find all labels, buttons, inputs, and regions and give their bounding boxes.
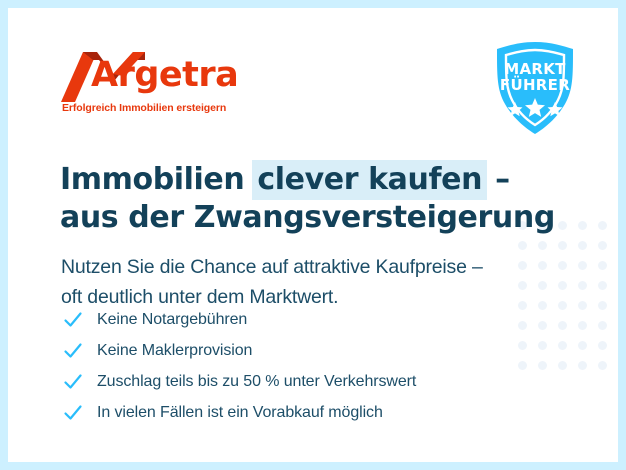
headline-line-2: aus der Zwangsversteigerung (60, 200, 555, 235)
decorative-dot (598, 321, 607, 330)
logo-wordmark: Argetra (91, 58, 238, 93)
list-item: Keine Notargebühren (63, 304, 416, 335)
check-icon (63, 403, 83, 423)
list-item-label: In vielen Fällen ist ein Vorabkauf mögli… (97, 404, 383, 422)
decorative-dot (558, 341, 567, 350)
decorative-dot (598, 301, 607, 310)
decorative-dot (558, 221, 567, 230)
decorative-dot (598, 281, 607, 290)
decorative-dot (578, 221, 587, 230)
decorative-dot (578, 241, 587, 250)
subtitle-line-1: Nutzen Sie die Chance auf attraktive Kau… (61, 256, 483, 278)
decorative-dot (518, 341, 527, 350)
decorative-dot (598, 361, 607, 370)
decorative-dot (538, 321, 547, 330)
list-item-label: Keine Notargebühren (97, 311, 247, 329)
decorative-dot (578, 301, 587, 310)
decorative-dot (598, 241, 607, 250)
decorative-dot (518, 361, 527, 370)
decorative-dot (558, 321, 567, 330)
headline-pre: Immobilien (60, 162, 254, 197)
page-title: Immobilien clever kaufen – aus der Zwang… (60, 161, 555, 238)
decorative-dot (578, 281, 587, 290)
decorative-dot (578, 261, 587, 270)
ad-card: Argetra Erfolgreich Immobilien ersteiger… (8, 8, 618, 462)
subtitle: Nutzen Sie die Chance auf attraktive Kau… (61, 252, 483, 312)
ad-frame: Argetra Erfolgreich Immobilien ersteiger… (0, 0, 626, 470)
decorative-dot (518, 301, 527, 310)
list-item: In vielen Fällen ist ein Vorabkauf mögli… (63, 397, 416, 428)
decorative-dot (538, 281, 547, 290)
list-item: Zuschlag teils bis zu 50 % unter Verkehr… (63, 366, 416, 397)
argetra-logo[interactable]: Argetra Erfolgreich Immobilien ersteiger… (61, 50, 281, 102)
list-item-label: Keine Maklerprovision (97, 342, 252, 360)
decorative-dot (538, 341, 547, 350)
decorative-dot (558, 261, 567, 270)
decorative-dot (578, 361, 587, 370)
decorative-dot (538, 241, 547, 250)
benefits-list: Keine Notargebühren Keine Maklerprovisio… (63, 304, 416, 428)
decorative-dot (598, 341, 607, 350)
decorative-dot (518, 241, 527, 250)
decorative-dot (538, 361, 547, 370)
decorative-dot (598, 221, 607, 230)
decorative-dot (558, 241, 567, 250)
logo-tagline: Erfolgreich Immobilien ersteigern (62, 102, 226, 114)
check-icon (63, 341, 83, 361)
headline-highlight: clever kaufen (252, 160, 487, 200)
decorative-dot (578, 341, 587, 350)
decorative-dot (538, 301, 547, 310)
list-item-label: Zuschlag teils bis zu 50 % unter Verkehr… (97, 373, 416, 391)
headline-post: – (485, 162, 510, 197)
decorative-dot (558, 281, 567, 290)
decorative-dot (558, 301, 567, 310)
shield-icon (489, 40, 581, 136)
market-leader-badge: MARKT FÜHRER (489, 40, 581, 136)
check-icon (63, 372, 83, 392)
decorative-dot (558, 361, 567, 370)
decorative-dot (538, 261, 547, 270)
list-item: Keine Maklerprovision (63, 335, 416, 366)
decorative-dot (518, 281, 527, 290)
decorative-dot (518, 321, 527, 330)
check-icon (63, 310, 83, 330)
decorative-dot (578, 321, 587, 330)
decorative-dot (518, 261, 527, 270)
logo-mark-row: Argetra (61, 50, 281, 102)
decorative-dot (598, 261, 607, 270)
decorative-dot-grid (512, 215, 612, 375)
headline-line-1: Immobilien clever kaufen – (60, 162, 510, 197)
